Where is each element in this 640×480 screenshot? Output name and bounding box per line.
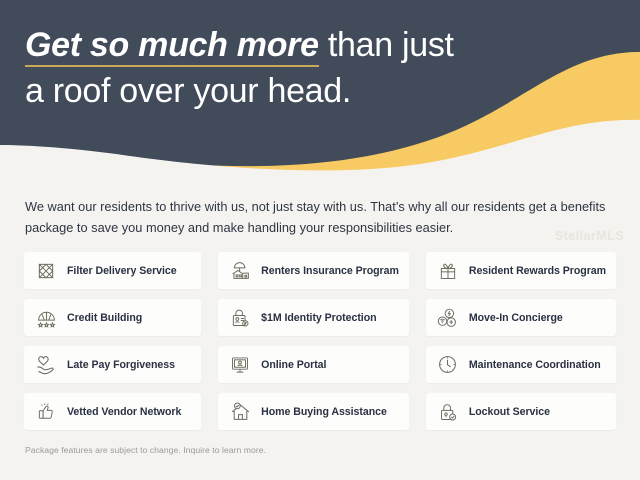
monitor-person-icon — [228, 353, 252, 377]
benefit-card-maintenance-coordination[interactable]: Maintenance Coordination — [426, 346, 616, 383]
benefit-card-home-buying-assistance[interactable]: Home Buying Assistance — [218, 393, 409, 430]
thumbs-up-icon — [34, 400, 58, 424]
page-title: Get so much more than just a roof over y… — [25, 24, 545, 112]
benefit-label: Vetted Vendor Network — [67, 406, 181, 418]
id-badge-lock-icon — [228, 306, 252, 330]
benefit-card-late-pay-forgiveness[interactable]: Late Pay Forgiveness — [24, 346, 201, 383]
benefit-label: Late Pay Forgiveness — [67, 359, 175, 371]
benefit-label: Filter Delivery Service — [67, 265, 177, 277]
benefit-card-credit-building[interactable]: Credit Building — [24, 299, 201, 336]
benefit-label: $1M Identity Protection — [261, 312, 376, 324]
benefit-label: Renters Insurance Program — [261, 265, 399, 277]
benefit-label: Resident Rewards Program — [469, 265, 606, 277]
benefit-card-online-portal[interactable]: Online Portal — [218, 346, 409, 383]
benefit-card-renters-insurance-program[interactable]: Renters Insurance Program — [218, 252, 409, 289]
benefit-card-filter-delivery-service[interactable]: Filter Delivery Service — [24, 252, 201, 289]
benefit-card-move-in-concierge[interactable]: Move-In Concierge — [426, 299, 616, 336]
benefit-label: Maintenance Coordination — [469, 359, 601, 371]
hero-banner: Get so much more than just a roof over y… — [0, 0, 640, 180]
utility-circles-icon — [436, 306, 460, 330]
benefit-card-vetted-vendor-network[interactable]: Vetted Vendor Network — [24, 393, 201, 430]
benefit-card-identity-protection[interactable]: $1M Identity Protection — [218, 299, 409, 336]
intro-paragraph: We want our residents to thrive with us,… — [25, 196, 621, 238]
headline-line-2: a roof over your head. — [25, 70, 545, 112]
headline-rest: than just — [319, 26, 454, 64]
gift-box-icon — [436, 259, 460, 283]
disclaimer-text: Package features are subject to change. … — [25, 445, 266, 455]
benefits-grid: Filter Delivery Service Renters Insuranc… — [24, 252, 616, 430]
house-check-icon — [228, 400, 252, 424]
clock-icon — [436, 353, 460, 377]
headline-emphasis: Get so much more — [25, 26, 319, 67]
benefit-label: Credit Building — [67, 312, 142, 324]
benefit-label: Lockout Service — [469, 406, 550, 418]
benefit-card-lockout-service[interactable]: Lockout Service — [426, 393, 616, 430]
bank-dome-stars-icon — [34, 306, 58, 330]
padlock-check-icon — [436, 400, 460, 424]
filter-mesh-icon — [34, 259, 58, 283]
umbrella-house-icon — [228, 259, 252, 283]
benefit-label: Home Buying Assistance — [261, 406, 387, 418]
hand-heart-icon — [34, 353, 58, 377]
benefit-card-resident-rewards-program[interactable]: Resident Rewards Program — [426, 252, 616, 289]
benefit-label: Online Portal — [261, 359, 326, 371]
benefit-label: Move-In Concierge — [469, 312, 563, 324]
